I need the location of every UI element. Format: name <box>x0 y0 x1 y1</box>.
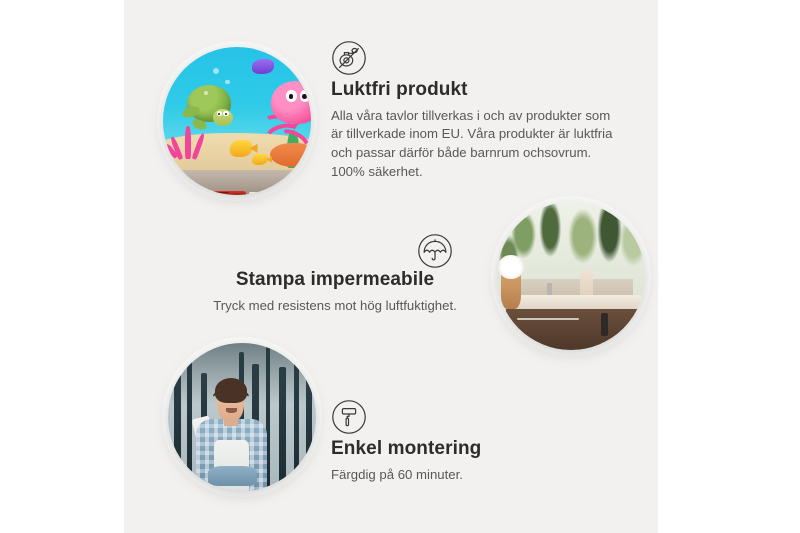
no-fragrance-icon <box>331 40 367 76</box>
woman-illustration <box>192 376 272 491</box>
coral-illustration <box>169 121 213 159</box>
umbrella-icon <box>417 233 453 269</box>
feature-title-waterproof: Stampa impermeabile <box>196 268 474 292</box>
feature-text-odourless: Luktfri produkt Alla våra tavlor tillver… <box>331 78 623 182</box>
octopus-illustration <box>258 81 311 146</box>
feature-body-odourless: Alla våra tavlor tillverkas i och av pro… <box>331 107 623 182</box>
feature-image-bathroom-tropical <box>497 202 645 350</box>
feature-body-easy-mounting: Färgdig på 60 minuter. <box>331 466 581 485</box>
feature-text-waterproof: Stampa impermeabile Tryck med resistens … <box>196 268 474 315</box>
infographic-canvas: Luktfri produkt Alla våra tavlor tillver… <box>0 0 800 533</box>
feature-image-underwater-cartoon <box>163 47 311 195</box>
feature-title-easy-mounting: Enkel montering <box>331 437 581 461</box>
feature-title-odourless: Luktfri produkt <box>331 78 623 102</box>
paint-roller-icon <box>331 399 367 435</box>
feature-image-woman-paint-roller <box>168 343 316 491</box>
feature-body-waterproof: Tryck med resistens mot hög luftfuktighe… <box>196 297 474 316</box>
feature-text-easy-mounting: Enkel montering Färgdig på 60 minuter. <box>331 437 581 484</box>
